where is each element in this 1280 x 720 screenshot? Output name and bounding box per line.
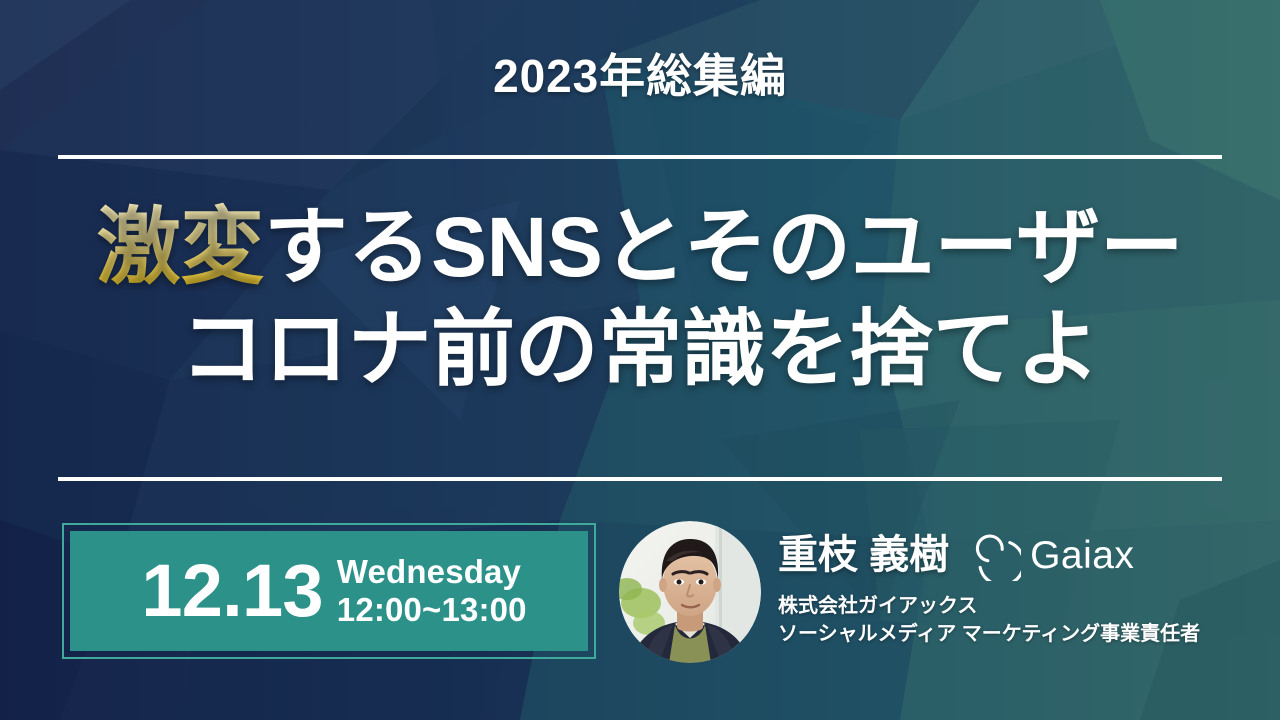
- date-badge-inner: 12.13 Wednesday 12:00~13:00: [70, 531, 588, 651]
- date-badge: 12.13 Wednesday 12:00~13:00: [62, 523, 596, 659]
- headline-line-1-rest: するSNSとそのユーザー: [264, 200, 1183, 294]
- speaker-affiliation: 株式会社ガイアックス ソーシャルメディア マーケティング事業責任者: [778, 593, 1248, 648]
- headline: 激変するSNSとそのユーザー コロナ前の常識を捨てよ: [0, 196, 1280, 401]
- speaker-avatar: [619, 521, 761, 663]
- event-date: 12.13: [141, 554, 322, 628]
- headline-line-2: コロナ前の常識を捨てよ: [0, 298, 1280, 400]
- headline-line-1: 激変するSNSとそのユーザー: [0, 196, 1280, 298]
- headline-accent-text: 激変: [97, 200, 264, 294]
- webinar-banner: 2023年総集編 激変するSNSとそのユーザー コロナ前の常識を捨てよ 12.1…: [0, 0, 1280, 720]
- gaiax-spiral-icon: [969, 529, 1021, 581]
- eyebrow-title: 2023年総集編: [0, 52, 1280, 100]
- event-time: 12:00~13:00: [337, 591, 527, 629]
- speaker-name: 重枝 義樹: [778, 535, 949, 575]
- speaker-company: 株式会社ガイアックス: [778, 593, 1248, 621]
- gaiax-logo: Gaiax: [969, 529, 1134, 581]
- speaker-role: ソーシャルメディア マーケティング事業責任者: [778, 621, 1248, 649]
- event-date-details: Wednesday 12:00~13:00: [337, 553, 527, 630]
- speaker-portrait-illustration: [619, 521, 761, 663]
- speaker-info: 重枝 義樹 Gaiax 株式会社ガイアックス ソーシャルメディア マーケティング…: [778, 528, 1248, 648]
- event-weekday: Wednesday: [337, 553, 527, 591]
- divider-bottom: [58, 477, 1222, 481]
- divider-top: [58, 155, 1222, 159]
- gaiax-wordmark: Gaiax: [1030, 536, 1134, 575]
- speaker-name-row: 重枝 義樹 Gaiax: [778, 528, 1248, 582]
